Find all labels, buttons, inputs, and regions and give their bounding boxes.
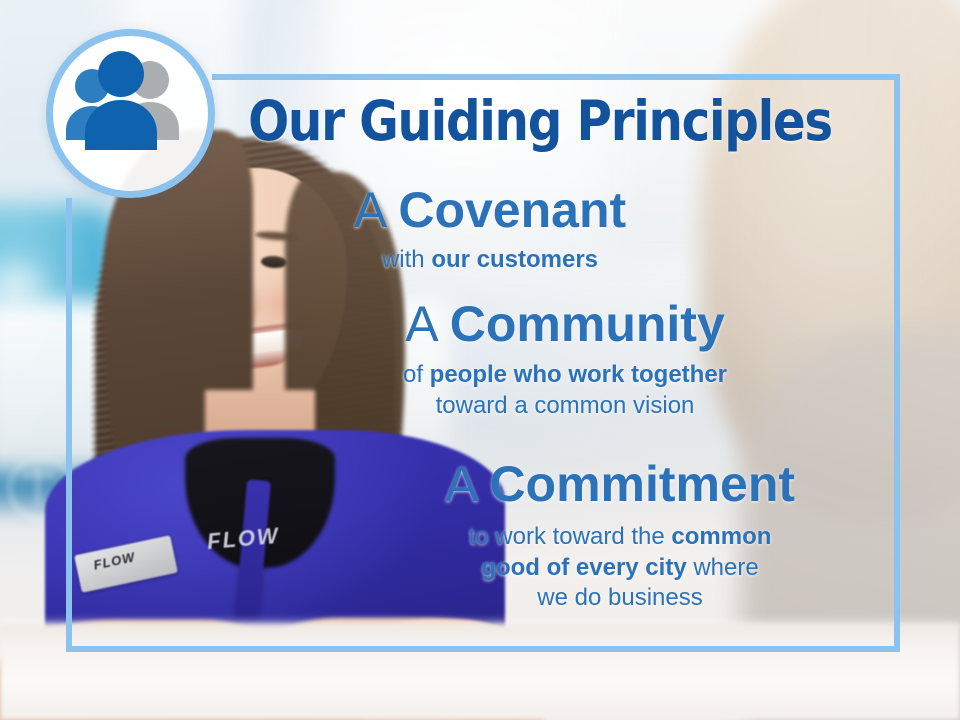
detail-plain: with (382, 246, 431, 273)
detail-plain: where (687, 554, 759, 581)
principle-covenant: A Covenant with our customers (250, 184, 730, 276)
people-group-icon (62, 48, 186, 158)
principle-keyword: Covenant (398, 182, 626, 238)
white-desk (0, 624, 960, 720)
principle-detail: of people who work together toward a com… (300, 360, 830, 421)
principle-heading: A Commitment (370, 458, 870, 510)
principle-community: A Community of people who work together … (300, 298, 830, 421)
frame-bottom-border (66, 646, 900, 652)
detail-line: we do business (370, 583, 870, 614)
principle-detail: with our customers (250, 245, 730, 276)
guiding-principles-graphic: FLOW FLOW (0, 0, 960, 720)
detail-line: to work toward the common (370, 522, 870, 553)
principle-commitment: A Commitment to work toward the common g… (370, 458, 870, 614)
principle-article: A (354, 182, 385, 238)
detail-line: good of every city where (370, 553, 870, 584)
principle-keyword: Commitment (489, 456, 795, 512)
principle-detail: to work toward the common good of every … (370, 522, 870, 614)
frame-left-border (66, 198, 72, 652)
principle-heading: A Community (300, 298, 830, 350)
frame-right-border (894, 74, 900, 652)
principle-article: A (445, 456, 476, 512)
frame-top-border (212, 74, 900, 80)
detail-line: toward a common vision (300, 391, 830, 422)
detail-bold: people who work together (430, 361, 727, 388)
detail-plain: of (403, 361, 430, 388)
principle-keyword: Community (450, 296, 725, 352)
principle-heading: A Covenant (250, 184, 730, 236)
detail-bold: common (671, 523, 771, 550)
principle-article: A (405, 296, 436, 352)
detail-bold: good of every city (481, 554, 686, 581)
detail-plain: to work toward the (469, 523, 672, 550)
detail-bold: our customers (431, 246, 598, 273)
detail-line: of people who work together (300, 360, 830, 391)
page-title: Our Guiding Principles (241, 94, 839, 149)
